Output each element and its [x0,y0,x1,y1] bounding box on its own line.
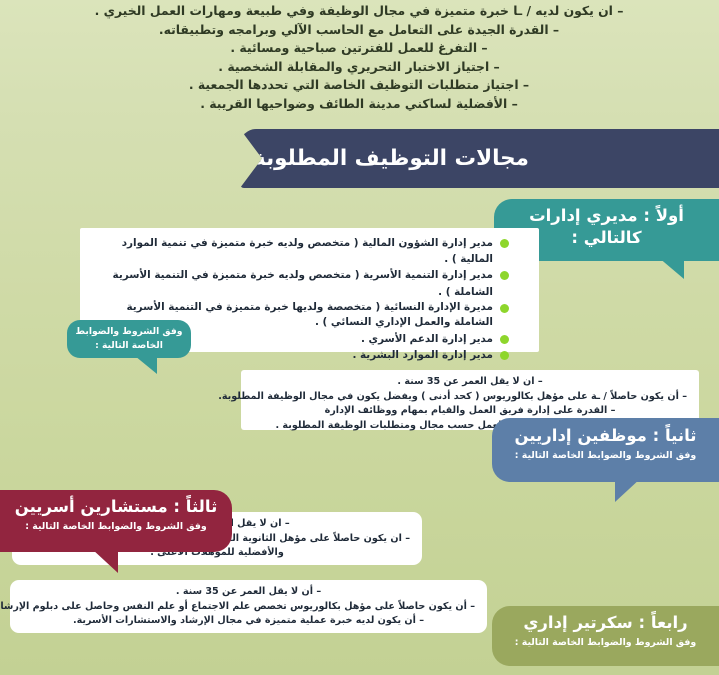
bullet-dot-icon [500,351,509,360]
terms-callout-first: وفق الشروط والضوابط الخاصة التالية : [67,320,191,358]
condition-line: – أن يكون حاصلاً / ـة على مؤهل بكالوريوس… [253,390,687,405]
section-header-second-tail [615,478,641,502]
page-title: مجالات التوظيف المطلوبة [253,146,529,171]
section-title: رابعاً : سكرتير إداري [506,612,705,634]
bullet-dot-icon [500,239,509,248]
condition-line: – ان لا يقل العمر عن 35 سنة . [253,375,687,390]
condition-line: – أن يكون لديه خبرة عملية متميزة في مجال… [22,614,475,629]
list-item: مدير إدارة التنمية الأسرية ( متخصص ولديه… [90,267,509,299]
intro-line: – اجتياز متطلبات التوظيف الخاصة التي تحد… [9,76,709,95]
section-title: ثالثاً : مستشارين أسريين [14,496,218,518]
intro-line: – الأفضلية لساكني مدينة الطائف وضواحيها … [9,95,709,114]
panel-conditions-third: – أن لا يقل العمر عن 35 سنة . – أن يكون … [10,580,487,633]
section-title: ثانياً : موظفين إداريين [506,425,705,447]
poster-canvas: – ان يكون لديه / ـا خبرة متميزة في مجال … [0,0,719,675]
terms-callout-line: وفق الشروط والضوابط [73,325,185,339]
section-header-third: ثالثاً : مستشارين أسريين وفق الشروط والض… [0,490,232,552]
section-header-first-tail [658,257,684,279]
list-item-label: مدير إدارة الشؤون المالية ( متخصص ولديه … [90,235,493,267]
condition-line: – أن يكون حاصلاً على مؤهل بكالوريوس تخصص… [22,600,475,615]
intro-line: – التفرغ للعمل للفترتين صباحية ومسائية . [9,39,709,58]
list-item-label: مدير إدارة التنمية الأسرية ( متخصص ولديه… [90,267,493,299]
section-subtitle: وفق الشروط والضوابط الخاصة التالية : [506,447,705,465]
section-title: أولاً : مديري إدارات [508,205,705,227]
section-subtitle: وفق الشروط والضوابط الخاصة التالية : [506,634,705,652]
section-header-fourth: رابعاً : سكرتير إداري وفق الشروط والضواب… [492,606,719,666]
bullet-dot-icon [500,271,509,280]
list-item: مدير إدارة الشؤون المالية ( متخصص ولديه … [90,235,509,267]
section-header-third-tail [92,549,118,573]
terms-callout-line: الخاصة التالية : [73,339,185,353]
intro-line: – اجتياز الاختبار التحريري والمقابلة الش… [9,58,709,77]
intro-requirements-list: – ان يكون لديه / ـا خبرة متميزة في مجال … [9,2,709,114]
main-title-banner: مجالات التوظيف المطلوبة [240,129,719,188]
bullet-dot-icon [500,304,509,313]
bullet-dot-icon [500,335,509,344]
terms-callout-tail [135,356,157,374]
condition-line: – القدرة على إدارة فريق العمل والقيام بم… [253,404,687,419]
intro-line: – القدرة الجيدة على التعامل مع الحاسب ال… [9,21,709,40]
section-header-second: ثانياً : موظفين إداريين وفق الشروط والضو… [492,418,719,482]
intro-line: – ان يكون لديه / ـا خبرة متميزة في مجال … [9,2,709,21]
condition-line: – أن لا يقل العمر عن 35 سنة . [22,585,475,600]
section-subtitle: وفق الشروط والضوابط الخاصة التالية : [14,518,218,535]
